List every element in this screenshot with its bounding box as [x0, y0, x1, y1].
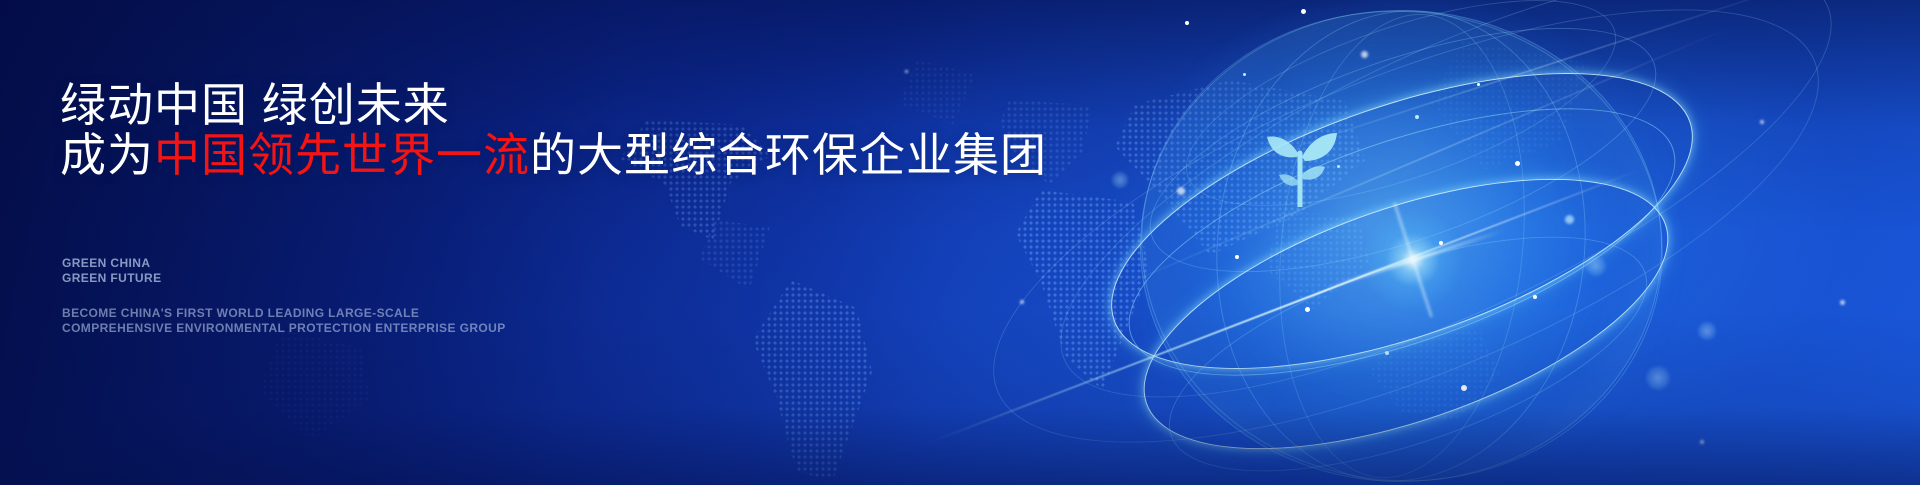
sparkle — [1301, 9, 1306, 14]
globe-ring — [1142, 188, 1675, 485]
sparkle — [1305, 307, 1310, 312]
bokeh-dot — [1111, 171, 1129, 189]
globe-sphere — [1140, 10, 1662, 482]
tagline-english: GREEN CHINA GREEN FUTURE — [62, 256, 161, 286]
headline-line-1: 绿动中国 绿创未来 — [60, 78, 450, 132]
sparkle — [1515, 161, 1520, 166]
globe-ring — [1122, 0, 1684, 323]
headline-line-2: 成为中国领先世界一流的大型综合环保企业集团 — [60, 128, 1047, 182]
globe-ring — [1076, 12, 1728, 430]
sparkle — [1439, 241, 1443, 245]
headline-line-1-text: 绿动中国 绿创未来 — [60, 79, 450, 131]
subline-english: BECOME CHINA'S FIRST WORLD LEADING LARGE… — [62, 306, 506, 336]
bokeh-dot — [1585, 255, 1607, 277]
hero-banner: 绿动中国 绿创未来 成为中国领先世界一流的大型综合环保企业集团 GREEN CH… — [0, 0, 1920, 485]
bokeh-dot — [1645, 365, 1671, 391]
globe-ring — [1163, 0, 1640, 248]
bokeh-dot — [1697, 321, 1717, 341]
subline-english-line-2: COMPREHENSIVE ENVIRONMENTAL PROTECTION E… — [62, 321, 506, 336]
sparkle — [1385, 351, 1389, 355]
sparkle — [1243, 73, 1246, 76]
tagline-english-line-1: GREEN CHINA — [62, 256, 161, 271]
sparkle — [1477, 83, 1480, 86]
globe-ring — [1098, 53, 1706, 431]
headline-prefix: 成为 — [60, 129, 154, 181]
light-streak — [1220, 0, 1810, 172]
globe-meridian — [1257, 2, 1546, 485]
globe-meridian — [1193, 0, 1608, 485]
headline-highlight: 中国领先世界一流 — [154, 129, 530, 181]
sparkle — [1185, 21, 1189, 25]
hero-text-block: 绿动中国 绿创未来 成为中国领先世界一流的大型综合环保企业集团 GREEN CH… — [60, 0, 1100, 485]
sparkle — [1177, 187, 1185, 195]
wireframe-globe — [1085, 0, 1725, 485]
sparkle — [1337, 165, 1340, 168]
sparkle — [1361, 51, 1368, 58]
sprout-leaf-icon — [1261, 123, 1339, 207]
globe-glow — [1115, 0, 1695, 485]
sparkle — [1533, 295, 1537, 299]
light-streak — [1073, 24, 1736, 306]
globe-ring — [1111, 123, 1701, 485]
sparkle — [1565, 215, 1574, 224]
light-burst — [1353, 200, 1473, 320]
sparkle — [1415, 115, 1419, 119]
tagline-english-line-2: GREEN FUTURE — [62, 271, 161, 286]
globe-meridian — [1118, 0, 1686, 485]
sparkle — [1235, 255, 1239, 259]
globe-outer-orbit — [1009, 0, 1884, 481]
headline-suffix: 的大型综合环保企业集团 — [530, 129, 1047, 181]
sparkle — [1461, 385, 1467, 391]
subline-english-line-1: BECOME CHINA'S FIRST WORLD LEADING LARGE… — [62, 306, 506, 321]
